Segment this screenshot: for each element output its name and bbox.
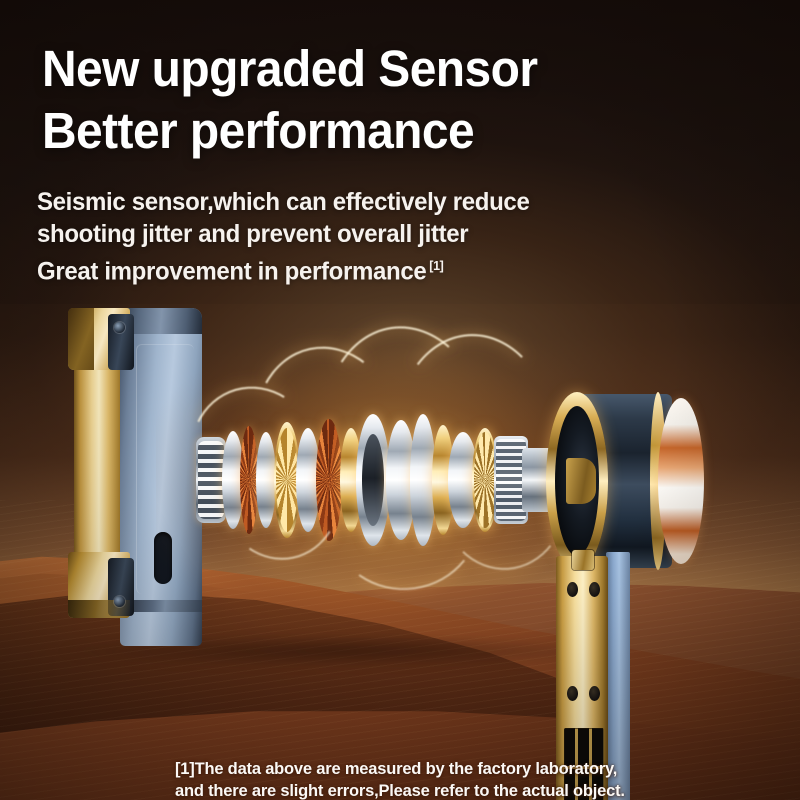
toothed-ring-teeth	[474, 432, 496, 528]
clamp-slot-cutout	[154, 532, 172, 584]
clamp-jaw-top-tip	[68, 308, 94, 370]
housing-end-cap	[658, 398, 704, 564]
housing-keyway	[566, 458, 596, 504]
subhead-line-3-text: Great improvement in performance	[37, 257, 426, 285]
exploded-motor-assembly	[196, 398, 576, 562]
clamp-screw-top	[114, 322, 125, 333]
motor-copper-stator-2	[316, 419, 342, 541]
subhead-line-2: shooting jitter and prevent overall jitt…	[37, 218, 529, 250]
subhead-line-1: Seismic sensor,which can effectively red…	[37, 186, 529, 218]
headline-line-1: New upgraded Sensor	[42, 38, 537, 100]
flange-bore	[362, 434, 384, 526]
arm-screw-hole-2	[589, 582, 600, 597]
clamp-screw-bottom	[114, 596, 125, 607]
subhead-line-3: Great improvement in performance[1]	[37, 250, 529, 287]
motor-ring-4	[256, 432, 276, 528]
spline-teeth	[198, 441, 224, 519]
footnote-marker: [1]	[429, 258, 443, 273]
motor-large-flange	[356, 414, 390, 546]
product-poster: New upgraded Sensor Better performance S…	[0, 0, 800, 800]
arm-screw-hole-3	[567, 686, 578, 701]
gear-teeth	[276, 428, 298, 532]
arm-screw-hole-4	[589, 686, 600, 701]
footnote-line-2: and there are slight errors,Please refer…	[175, 780, 625, 800]
motor-housing	[546, 392, 708, 570]
subheading: Seismic sensor,which can effectively red…	[37, 186, 529, 287]
arm-top-clip	[572, 550, 594, 570]
headline-line-2: Better performance	[42, 100, 537, 162]
page-title: New upgraded Sensor Better performance	[42, 38, 537, 162]
arm-screw-hole-1	[567, 582, 578, 597]
footnote-line-1: [1]The data above are measured by the fa…	[175, 758, 625, 780]
footnote-disclaimer: [1]The data above are measured by the fa…	[175, 758, 625, 800]
